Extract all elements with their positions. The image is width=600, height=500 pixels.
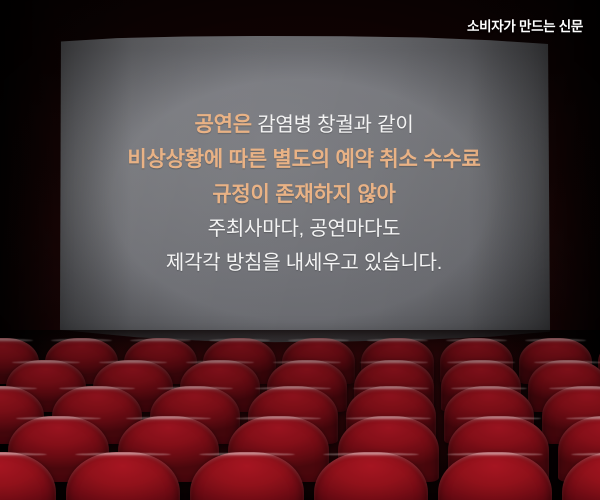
audience-seating xyxy=(0,330,600,500)
masthead-logo-text: 소비자가 만드는 신문 xyxy=(467,15,583,35)
caption-line-5: 제각각 방침을 내세우고 있습니다. xyxy=(58,247,550,281)
caption-line-1-plain: 감염병 창궐과 같이 xyxy=(252,114,414,136)
theater-seat xyxy=(0,452,56,500)
theater-seat xyxy=(190,452,304,500)
caption-line-1: 공연은 감염병 창궐과 같이 xyxy=(58,108,550,143)
screen-surface: 공연은 감염병 창궐과 같이 비상상황에 따른 별도의 예약 취소 수수료 규정… xyxy=(58,36,550,344)
theater-seat xyxy=(438,452,552,500)
caption-line-5-plain: 제각각 방침을 내세우고 있습니다. xyxy=(166,252,442,274)
theater-seat xyxy=(314,452,428,500)
caption-line-2-emphasis: 비상상황에 따른 별도의 예약 취소 수수료 xyxy=(127,148,480,171)
caption-line-4-plain: 주최사마다, 공연마다도 xyxy=(208,218,401,240)
cinema-card: 소비자가 만드는 신문 공연은 감염병 창궐과 같이 비상상황에 따른 별도의 … xyxy=(0,0,600,500)
theater-seat xyxy=(66,452,180,500)
caption-line-4: 주최사마다, 공연마다도 xyxy=(58,213,550,247)
caption-line-3-emphasis: 규정이 존재하지 않아 xyxy=(212,183,395,206)
caption-line-1-emphasis: 공연은 xyxy=(194,113,251,136)
caption-line-3: 규정이 존재하지 않아 xyxy=(58,178,550,213)
screen-caption: 공연은 감염병 창궐과 같이 비상상황에 따른 별도의 예약 취소 수수료 규정… xyxy=(58,108,550,281)
cinema-screen: 공연은 감염병 창궐과 같이 비상상황에 따른 별도의 예약 취소 수수료 규정… xyxy=(58,36,550,344)
seat-row xyxy=(0,452,600,500)
caption-line-2: 비상상황에 따른 별도의 예약 취소 수수료 xyxy=(58,143,550,178)
theater-seat xyxy=(562,452,600,500)
